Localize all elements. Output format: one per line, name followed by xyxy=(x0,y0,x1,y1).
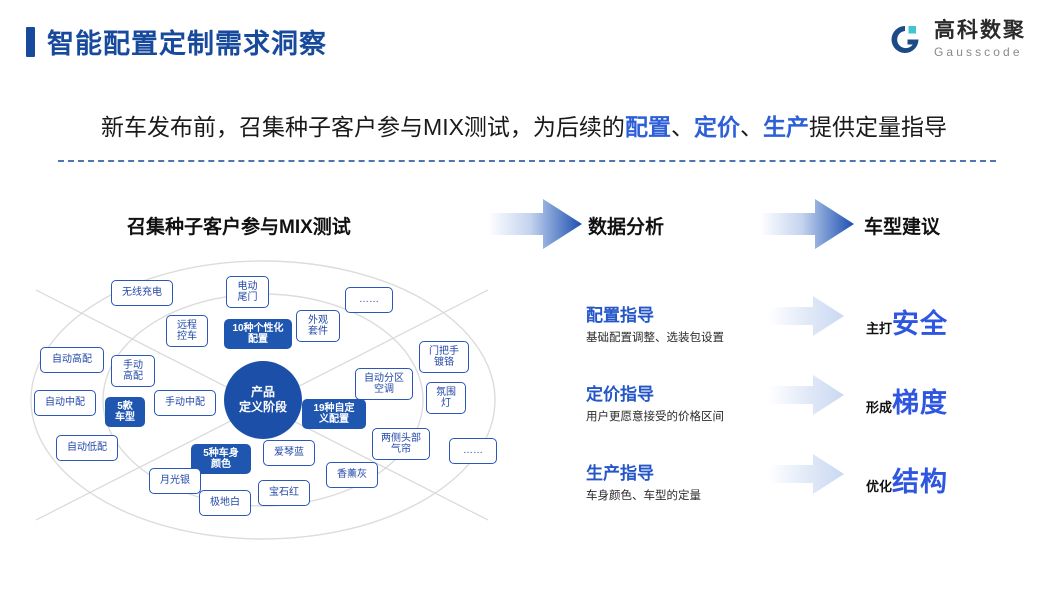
node-19-custom-configs[interactable]: 19种自定 义配置 xyxy=(302,399,366,429)
node-remote-control[interactable]: 远程 控车 xyxy=(166,315,208,347)
title-accent-bar xyxy=(26,27,35,57)
row-output-safety: 主打安全 xyxy=(866,302,948,341)
arrow-right-row-2 xyxy=(768,374,844,416)
node-wireless-charging[interactable]: 无线充电 xyxy=(111,280,173,306)
node-auto-high-trim[interactable]: 自动高配 xyxy=(40,347,104,373)
arrow-right-top-1 xyxy=(488,198,582,250)
brand-logo: 高科数聚 Gausscode xyxy=(885,20,1026,60)
column-header-model-advice: 车型建议 xyxy=(864,212,940,239)
node-color-moonlight-silver[interactable]: 月光银 xyxy=(149,468,201,494)
row-output-prefix-safety: 主打 xyxy=(866,321,892,336)
subtitle-sep2: 、 xyxy=(740,114,763,140)
product-definition-diagram: 产品 定义阶段 无线充电 电动 尾门 远程 控车 …… 外观 套件 10种个性化… xyxy=(18,258,518,543)
row-title-pricing-guidance: 定价指导 xyxy=(586,380,654,405)
row-output-prefix-structure: 优化 xyxy=(866,479,892,494)
row-output-structure: 优化结构 xyxy=(866,460,948,499)
node-ellipsis-right[interactable]: …… xyxy=(449,438,497,464)
node-color-aegean-blue[interactable]: 爱琴蓝 xyxy=(263,440,315,466)
row-output-keyword-safety: 安全 xyxy=(892,309,948,339)
node-auto-dual-zone-ac[interactable]: 自动分区 空调 xyxy=(355,368,413,400)
node-ambient-light[interactable]: 氛围 灯 xyxy=(426,382,466,414)
subtitle: 新车发布前，召集种子客户参与MIX测试，为后续的配置、定价、生产提供定量指导 xyxy=(0,108,1048,142)
node-side-head-airbags[interactable]: 两侧头部 气帘 xyxy=(372,428,430,460)
slide: 智能配置定制需求洞察 高科数聚 Gausscode 新车发布前，召集种子客户参与… xyxy=(0,0,1048,589)
node-auto-mid-trim[interactable]: 自动中配 xyxy=(34,390,96,416)
subtitle-highlight-pricing: 定价 xyxy=(694,114,740,140)
node-color-aroma-grey[interactable]: 香薰灰 xyxy=(326,462,378,488)
row-title-config-guidance: 配置指导 xyxy=(586,301,654,326)
subtitle-highlight-production: 生产 xyxy=(763,114,809,140)
row-sub-production-guidance: 车身颜色、车型的定量 xyxy=(586,487,701,503)
row-sub-config-guidance: 基础配置调整、选装包设置 xyxy=(586,329,724,345)
row-output-keyword-structure: 结构 xyxy=(892,467,948,497)
title-text: 智能配置定制需求洞察 xyxy=(47,22,327,61)
node-auto-low-trim[interactable]: 自动低配 xyxy=(56,435,118,461)
node-power-tailgate[interactable]: 电动 尾门 xyxy=(226,276,269,308)
arrow-right-row-1 xyxy=(768,295,844,337)
node-chrome-door-handle[interactable]: 门把手 镀铬 xyxy=(419,341,469,373)
subtitle-highlight-config: 配置 xyxy=(625,114,671,140)
subtitle-sep1: 、 xyxy=(671,114,694,140)
node-exterior-kit[interactable]: 外观 套件 xyxy=(296,310,340,342)
column-header-mix-test: 召集种子客户参与MIX测试 xyxy=(127,212,351,239)
node-ellipsis-top[interactable]: …… xyxy=(345,287,393,313)
subtitle-part2: 提供定量指导 xyxy=(809,114,947,140)
node-color-ruby-red[interactable]: 宝石红 xyxy=(258,480,310,506)
column-header-data-analysis: 数据分析 xyxy=(588,212,664,239)
row-output-keyword-tiering: 梯度 xyxy=(892,388,948,418)
diagram-center-node: 产品 定义阶段 xyxy=(224,361,302,439)
gausscode-logo-icon xyxy=(885,20,927,60)
node-color-polar-white[interactable]: 极地白 xyxy=(199,490,251,516)
page-title: 智能配置定制需求洞察 xyxy=(26,22,327,61)
arrow-right-top-2 xyxy=(760,198,854,250)
subtitle-part1: 新车发布前，召集种子客户参与MIX测试，为后续的 xyxy=(101,114,625,140)
node-5-models[interactable]: 5款 车型 xyxy=(105,397,145,427)
row-output-prefix-tiering: 形成 xyxy=(866,400,892,415)
row-title-production-guidance: 生产指导 xyxy=(586,459,654,484)
row-sub-pricing-guidance: 用户更愿意接受的价格区间 xyxy=(586,408,724,424)
node-manual-high-trim[interactable]: 手动 高配 xyxy=(111,355,155,387)
row-output-tiering: 形成梯度 xyxy=(866,381,948,420)
logo-en-text: Gausscode xyxy=(934,44,1026,60)
logo-cn-text: 高科数聚 xyxy=(934,20,1026,42)
section-divider xyxy=(58,160,996,162)
arrow-right-row-3 xyxy=(768,453,844,495)
node-10-personalized-configs[interactable]: 10种个性化 配置 xyxy=(224,319,292,349)
node-manual-mid-trim[interactable]: 手动中配 xyxy=(154,390,216,416)
